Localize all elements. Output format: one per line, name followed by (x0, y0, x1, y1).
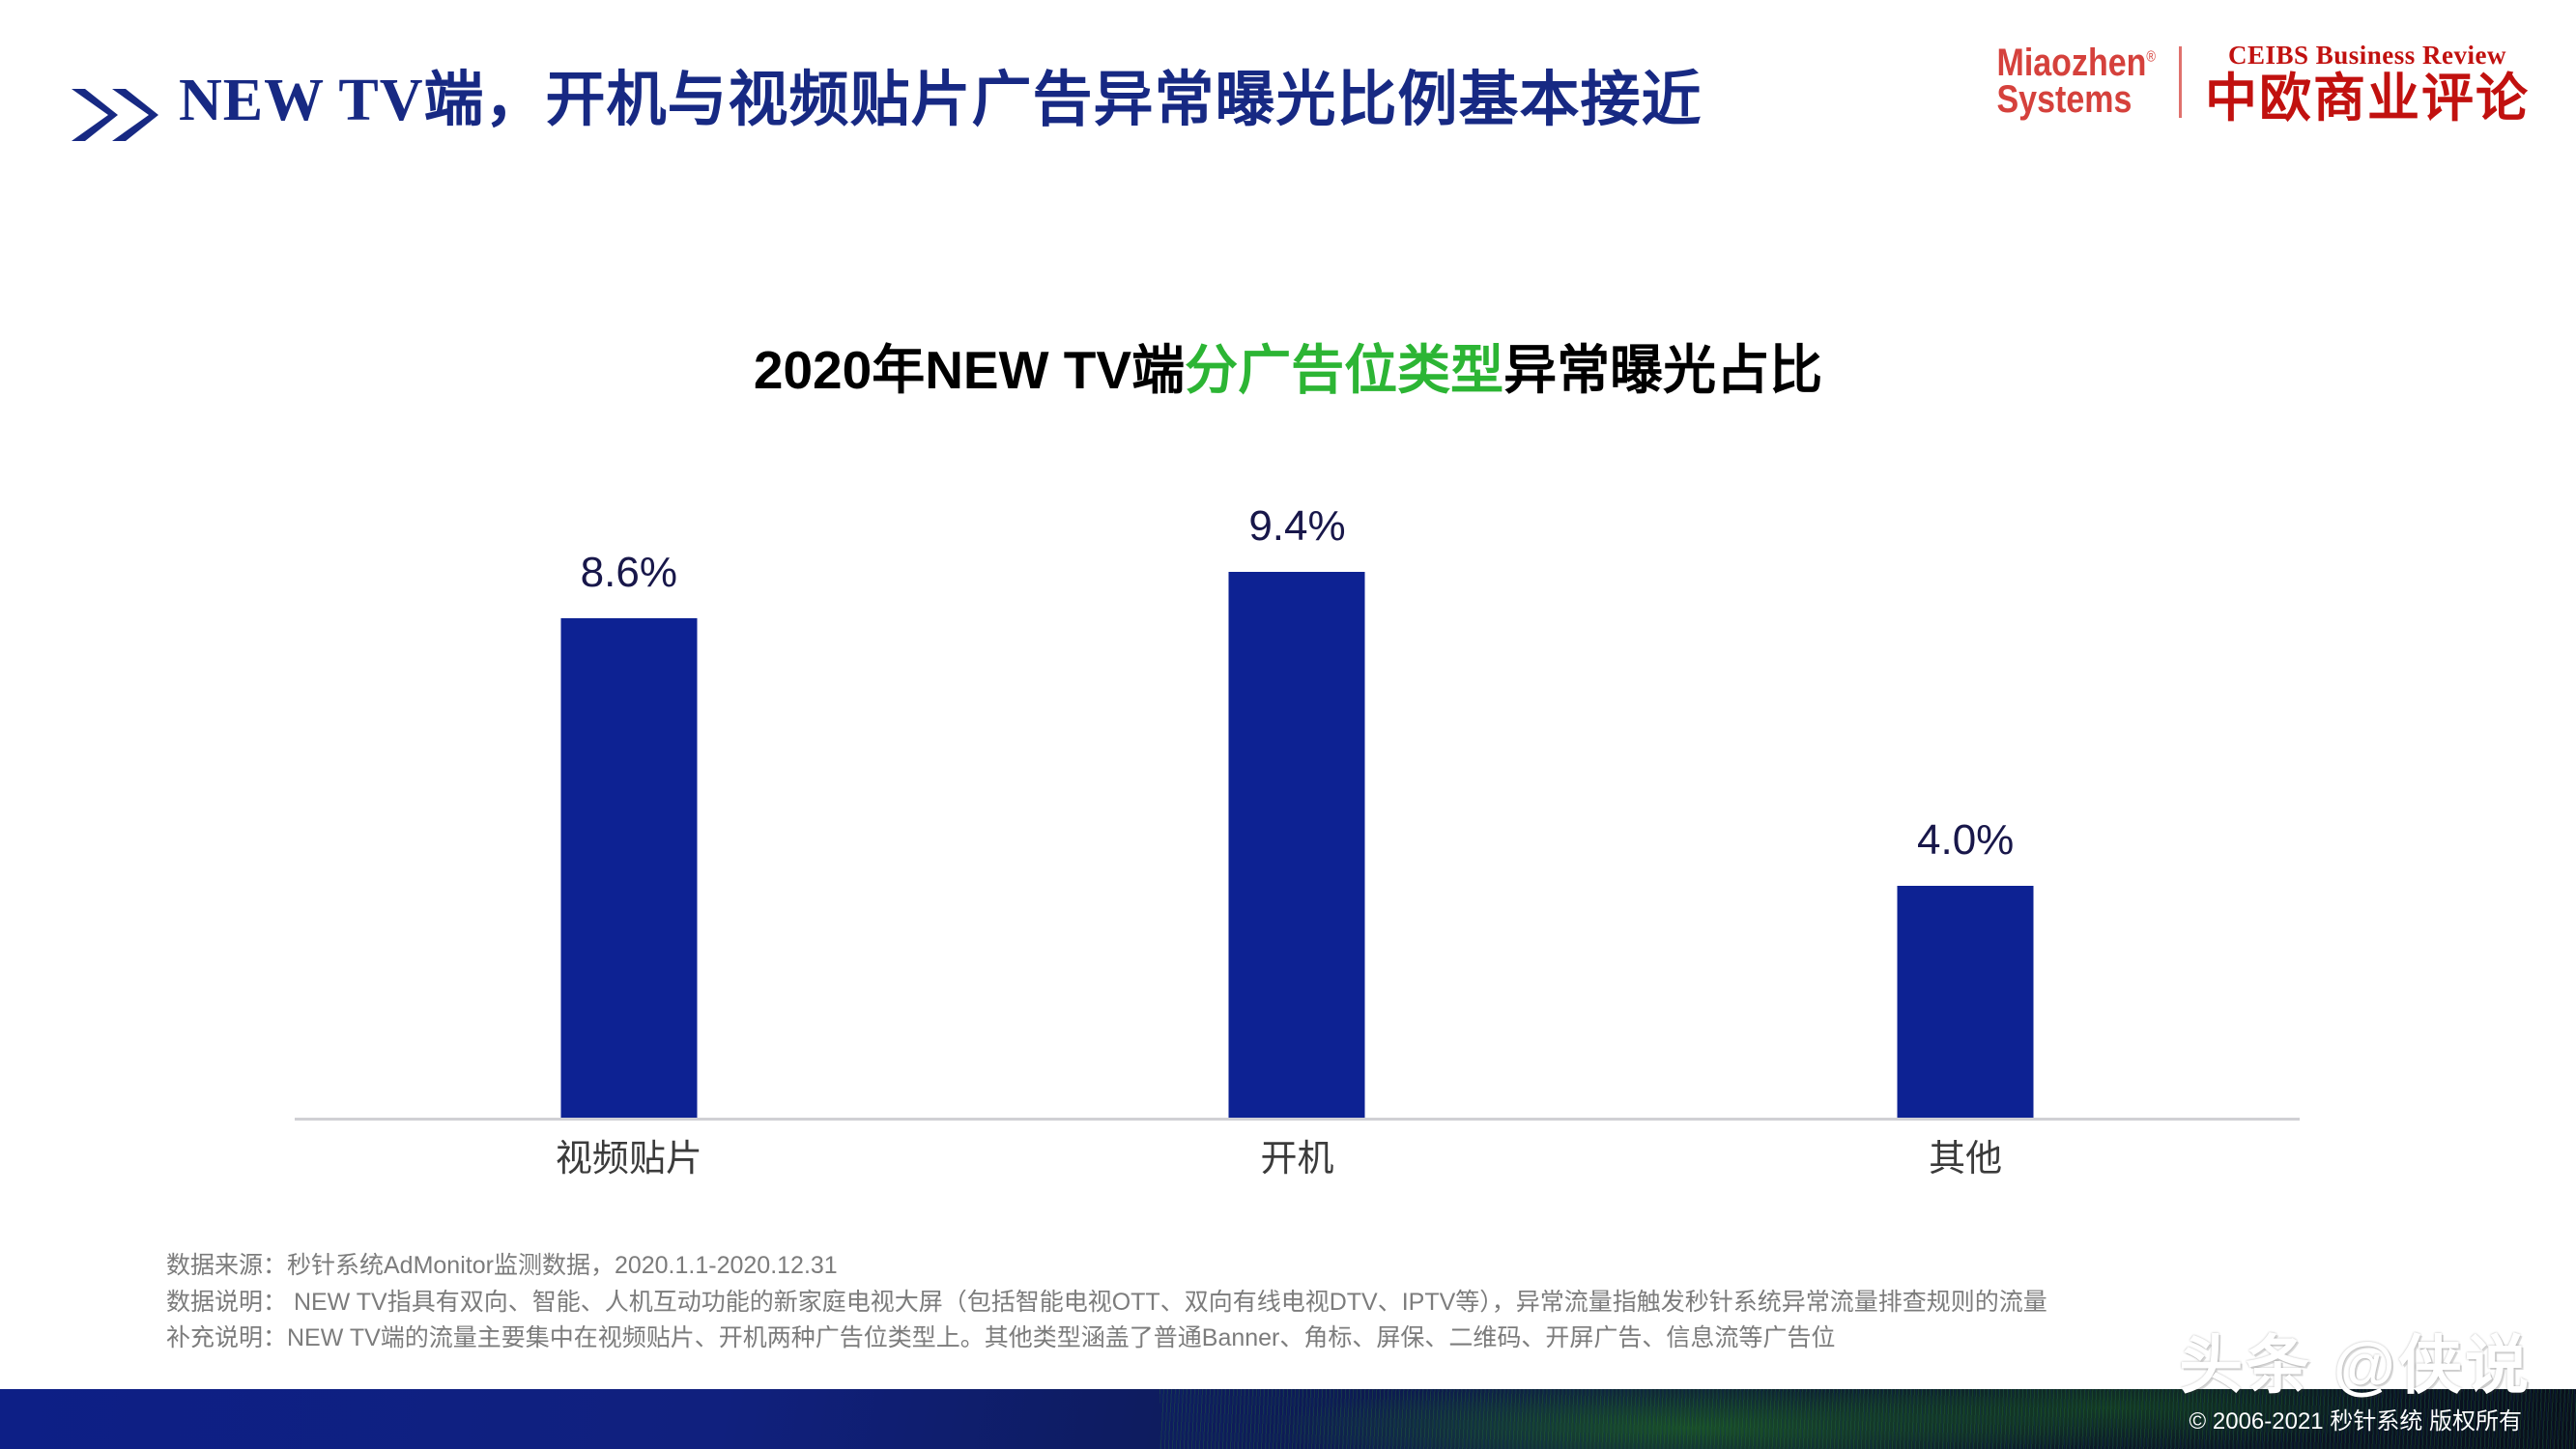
bar-group: 4.0%其他 (1631, 502, 2300, 1118)
logo-divider (2179, 46, 2182, 118)
bar-group: 8.6%视频贴片 (295, 502, 963, 1118)
copyright-text: © 2006-2021 秒针系统 版权所有 (2190, 1402, 2522, 1435)
footnote-data-source: 数据来源：秒针系统AdMonitor监测数据，2020.1.1-2020.12.… (166, 1248, 2047, 1285)
registered-mark-icon: ® (2146, 48, 2156, 66)
x-axis-category-label: 视频贴片 (556, 1128, 702, 1181)
slide-header: NEW TV端，开机与视频贴片广告异常曝光比例基本接近 Miaozhen® Sy… (0, 0, 2576, 155)
watermark: 头条 @侠说 (2179, 1314, 2532, 1406)
x-axis-category-label: 其他 (1929, 1128, 2002, 1181)
chart-title: 2020年NEW TV端分广告位类型异常曝光占比 (0, 327, 2576, 404)
bar-column: 8.6% (560, 549, 697, 1118)
chart-title-part1: 2020年NEW TV端 (754, 340, 1185, 400)
bar-group: 9.4%开机 (963, 502, 1632, 1118)
bar (560, 618, 697, 1118)
bar-value-label: 8.6% (581, 549, 677, 597)
bar-column: 9.4% (1229, 502, 1365, 1118)
ceibs-logo-english: CEIBS Business Review (2228, 41, 2506, 71)
footnotes: 数据来源：秒针系统AdMonitor监测数据，2020.1.1-2020.12.… (166, 1248, 2047, 1357)
bar-value-label: 9.4% (1248, 502, 1345, 551)
bar-column: 4.0% (1898, 816, 2034, 1118)
bar-chart: 8.6%视频贴片9.4%开机4.0%其他 (295, 502, 2300, 1121)
footnote-supplementary: 补充说明：NEW TV端的流量主要集中在视频贴片、开机两种广告位类型上。其他类型… (166, 1321, 2047, 1357)
x-axis-line (295, 1118, 2300, 1121)
miaozhen-logo-line2: Systems (1997, 82, 2132, 118)
footnote-data-explanation: 数据说明： NEW TV指具有双向、智能、人机互动功能的新家庭电视大屏（包括智能… (166, 1285, 2047, 1321)
brand-logos: Miaozhen® Systems CEIBS Business Review … (1997, 29, 2531, 135)
x-axis-category-label: 开机 (1260, 1128, 1333, 1181)
chart-title-part2: 异常曝光占比 (1503, 340, 1822, 400)
ceibs-logo: CEIBS Business Review 中欧商业评论 (2205, 41, 2530, 125)
double-chevron-right-icon (70, 85, 161, 150)
ceibs-logo-chinese: 中欧商业评论 (2205, 72, 2530, 125)
bar (1229, 572, 1365, 1118)
bar (1898, 886, 2034, 1118)
chart-title-highlight: 分广告位类型 (1185, 340, 1503, 400)
page-title: NEW TV端，开机与视频贴片广告异常曝光比例基本接近 (179, 50, 1703, 137)
bar-value-label: 4.0% (1917, 816, 2014, 865)
miaozhen-logo: Miaozhen® Systems (1997, 46, 2157, 119)
